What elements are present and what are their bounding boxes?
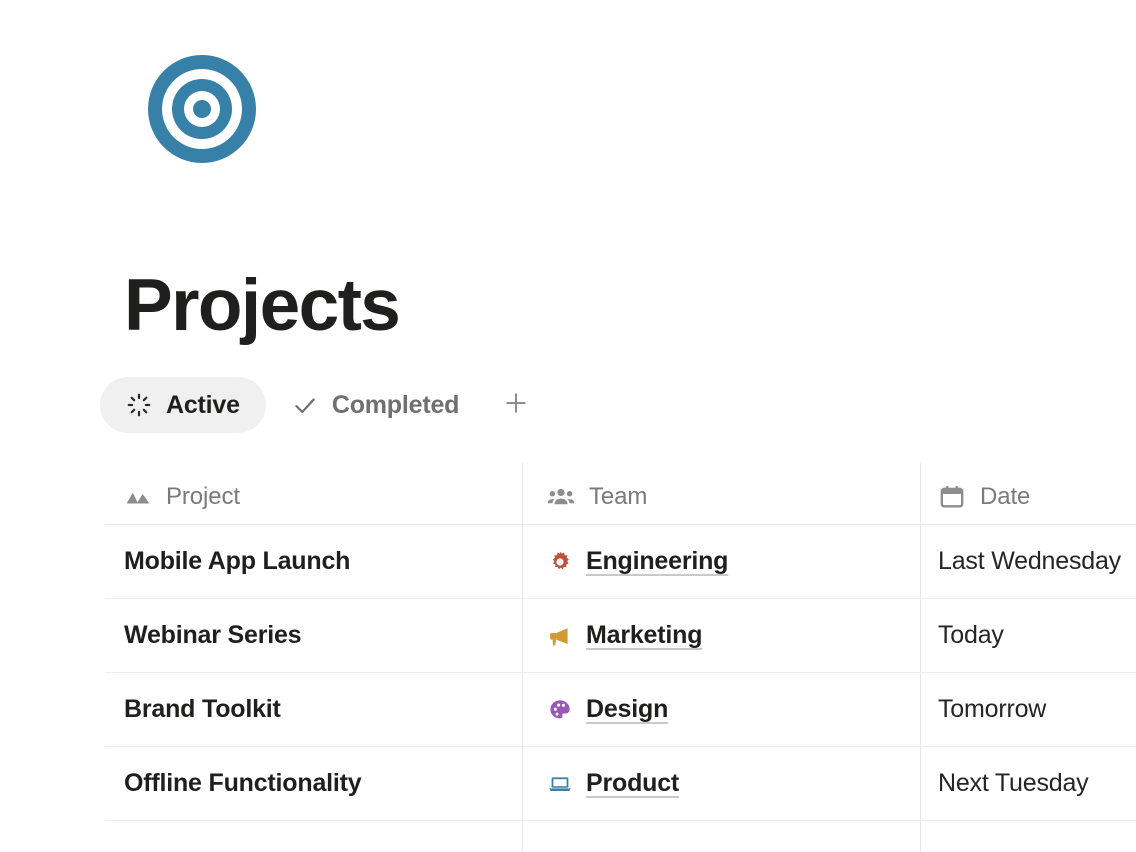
column-header-date[interactable]: Date	[920, 463, 1136, 524]
tab-bar: Active Completed	[100, 377, 539, 433]
plus-icon	[502, 389, 530, 422]
cell-team[interactable]: Design	[522, 673, 920, 746]
table-row[interactable]: Offline Functionality Product Next Tuesd…	[105, 747, 1136, 821]
column-header-team[interactable]: Team	[522, 463, 920, 524]
check-icon	[292, 392, 318, 418]
team-link[interactable]: Marketing	[586, 621, 702, 650]
projects-page: Projects Active	[0, 0, 1136, 852]
cell-date[interactable]: Today	[920, 599, 1136, 672]
people-group-icon	[547, 483, 575, 511]
cell-team[interactable]: Product	[522, 747, 920, 820]
project-name: Webinar Series	[124, 621, 301, 650]
cell-team[interactable]	[522, 821, 920, 852]
cell-date[interactable]	[920, 821, 1136, 852]
table-row[interactable]: Webinar Series Marketing Today	[105, 599, 1136, 673]
cell-project[interactable]	[105, 821, 522, 852]
palette-icon	[547, 698, 573, 722]
tab-completed[interactable]: Completed	[266, 377, 485, 433]
date-value: Next Tuesday	[938, 769, 1088, 798]
column-header-project-label: Project	[166, 483, 240, 511]
table-row[interactable]	[105, 821, 1136, 852]
spinner-icon	[126, 392, 152, 418]
cell-project[interactable]: Brand Toolkit	[105, 673, 522, 746]
project-name: Mobile App Launch	[124, 547, 350, 576]
column-header-team-label: Team	[589, 483, 647, 511]
projects-table: Project Team	[105, 463, 1136, 852]
project-name: Offline Functionality	[124, 769, 361, 798]
cell-date[interactable]: Tomorrow	[920, 673, 1136, 746]
mountains-icon	[124, 483, 152, 511]
table-header-row: Project Team	[105, 463, 1136, 525]
tab-active-label: Active	[166, 391, 240, 420]
team-link[interactable]: Product	[586, 769, 679, 798]
megaphone-icon	[547, 624, 573, 648]
team-link[interactable]: Engineering	[586, 547, 728, 576]
date-value: Last Wednesday	[938, 547, 1121, 576]
cell-date[interactable]: Next Tuesday	[920, 747, 1136, 820]
table-row[interactable]: Mobile App Launch Engineering Last Wedne…	[105, 525, 1136, 599]
tab-completed-label: Completed	[332, 391, 459, 420]
column-header-date-label: Date	[980, 483, 1030, 511]
cell-team[interactable]: Marketing	[522, 599, 920, 672]
tab-active[interactable]: Active	[100, 377, 266, 433]
column-header-project[interactable]: Project	[105, 463, 522, 524]
date-value: Today	[938, 621, 1004, 650]
table-row[interactable]: Brand Toolkit Design Tomorrow	[105, 673, 1136, 747]
cell-project[interactable]: Webinar Series	[105, 599, 522, 672]
bullseye-target-icon	[148, 55, 256, 163]
page-title: Projects	[124, 261, 399, 351]
cell-project[interactable]: Offline Functionality	[105, 747, 522, 820]
cell-project[interactable]: Mobile App Launch	[105, 525, 522, 598]
add-tab-button[interactable]	[493, 382, 539, 428]
date-value: Tomorrow	[938, 695, 1046, 724]
cell-date[interactable]: Last Wednesday	[920, 525, 1136, 598]
laptop-icon	[547, 772, 573, 796]
team-link[interactable]: Design	[586, 695, 668, 724]
calendar-icon	[938, 483, 966, 511]
cell-team[interactable]: Engineering	[522, 525, 920, 598]
gear-icon	[547, 550, 573, 574]
project-name: Brand Toolkit	[124, 695, 281, 724]
